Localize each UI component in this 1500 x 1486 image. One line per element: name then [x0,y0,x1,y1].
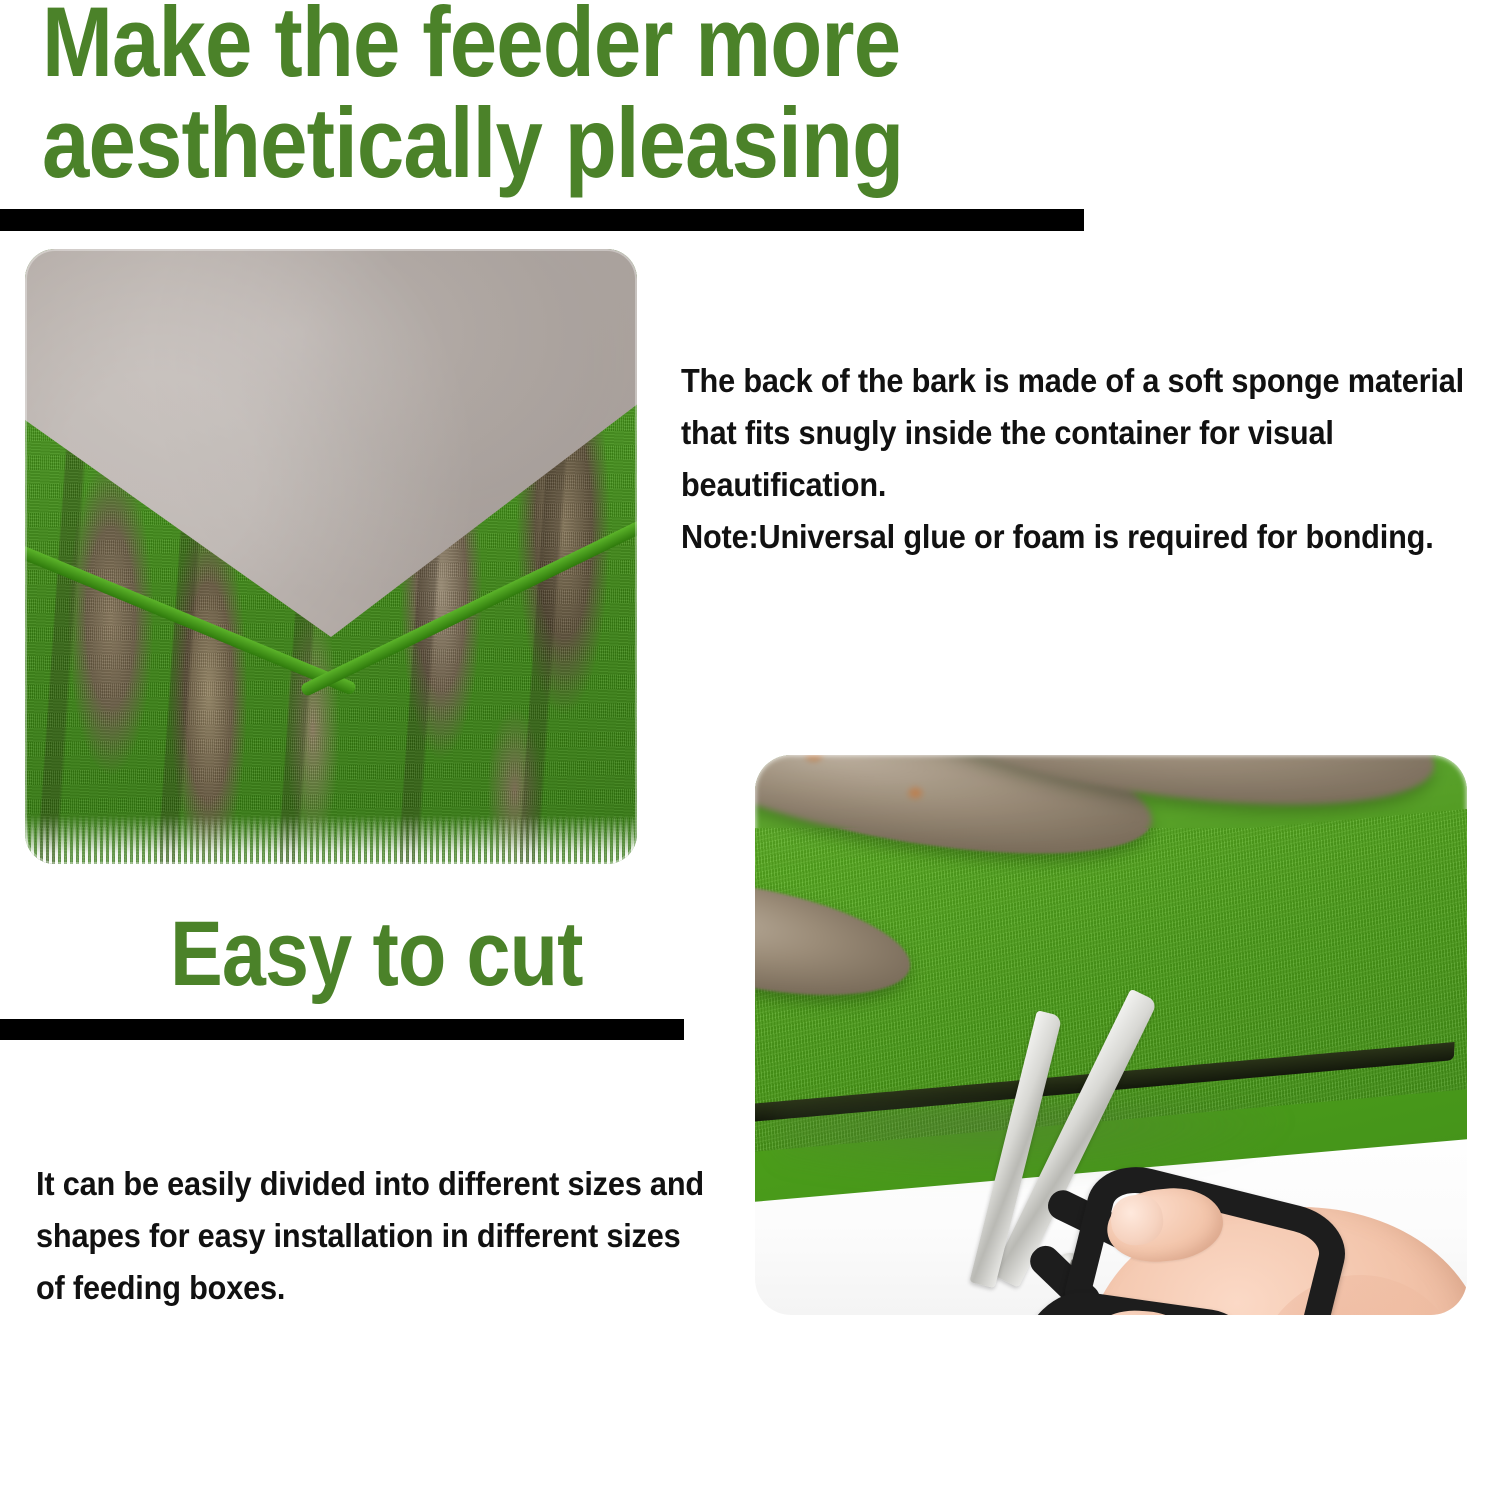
desc-cut-line-1: It can be easily divided into different … [36,1158,808,1210]
moss-mat-sponge-back-photo [25,249,637,864]
desc-bark-line-2: that fits snugly inside the container fo… [681,407,1500,459]
description-easy-to-cut: It can be easily divided into different … [36,1158,808,1314]
desc-cut-line-3: of feeding boxes. [36,1262,808,1314]
desc-bark-note: Note:Universal glue or foam is required … [681,511,1500,563]
divider-rule-top [0,209,1084,231]
page-title-aesthetics: Make the feeder more aesthetically pleas… [42,0,1040,194]
divider-rule-middle [0,1019,684,1040]
description-bark-sponge: The back of the bark is made of a soft s… [681,355,1500,563]
desc-bark-line-1: The back of the bark is made of a soft s… [681,355,1500,407]
desc-cut-line-2: shapes for easy installation in differen… [36,1210,808,1262]
desc-bark-line-3: beautification. [681,459,1500,511]
section-title-easy-to-cut: Easy to cut [170,908,634,1002]
moss-fringe-edge [25,815,637,864]
scissors-cutting-moss-mat-photo [755,755,1467,1315]
